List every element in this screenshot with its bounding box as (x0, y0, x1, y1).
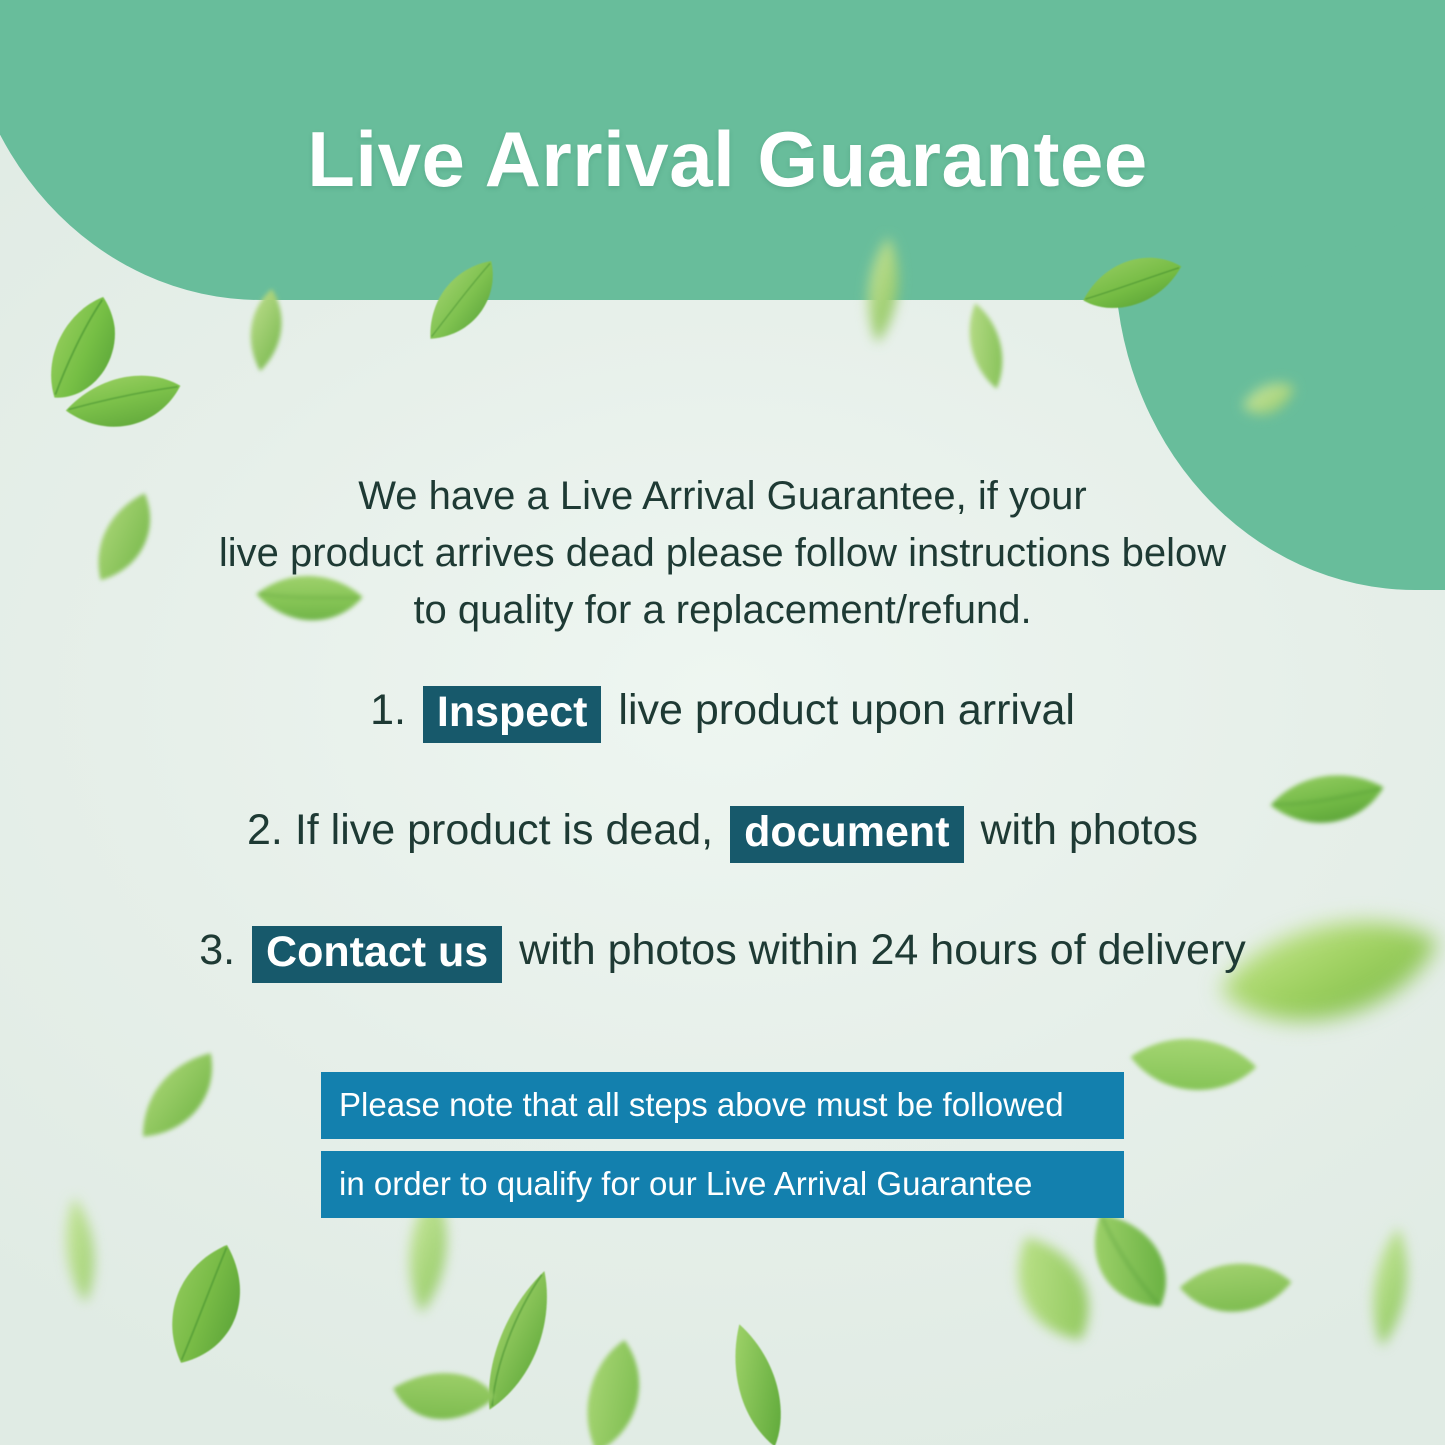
step-pretext-2: If live product is dead, (295, 806, 713, 854)
step-highlight-inspect: Inspect (423, 686, 602, 743)
note-banner-group: Please note that all steps above must be… (0, 1072, 1445, 1218)
intro-line-2: live product arrives dead please follow … (0, 525, 1445, 582)
step-number-1: 1. (370, 686, 406, 734)
step-item-2: 2. If live product is dead, document wit… (0, 806, 1445, 863)
step-text-1: live product upon arrival (618, 686, 1075, 734)
live-arrival-guarantee-poster: Live Arrival Guarantee We have a Live Ar… (0, 0, 1445, 1445)
leaf-icon (1166, 1227, 1300, 1354)
note-banner-line-2: in order to qualify for our Live Arrival… (321, 1151, 1124, 1218)
leaf-icon (952, 296, 1021, 397)
intro-line-1: We have a Live Arrival Guarantee, if you… (0, 468, 1445, 525)
step-item-3: 3. Contact us with photos within 24 hour… (0, 926, 1445, 983)
step-number-2: 2. (247, 806, 283, 854)
leaf-icon (545, 1329, 685, 1445)
step-text-3: with photos within 24 hours of delivery (519, 926, 1246, 974)
page-title: Live Arrival Guarantee (0, 120, 1445, 198)
step-highlight-contact-us: Contact us (252, 926, 502, 983)
step-item-1: 1. Inspect live product upon arrival (0, 686, 1445, 743)
leaf-icon (721, 1316, 799, 1445)
step-text-2: with photos (980, 806, 1198, 854)
leaf-icon (1357, 1222, 1424, 1353)
leaf-icon (129, 1232, 286, 1388)
intro-paragraph: We have a Live Arrival Guarantee, if you… (0, 468, 1445, 638)
step-number-3: 3. (199, 926, 235, 974)
step-highlight-document: document (730, 806, 963, 863)
note-banner-line-1: Please note that all steps above must be… (321, 1072, 1124, 1139)
intro-line-3: to quality for a replacement/refund. (0, 582, 1445, 639)
leaf-icon (234, 282, 298, 378)
steps-list: 1. Inspect live product upon arrival 2. … (0, 686, 1445, 983)
